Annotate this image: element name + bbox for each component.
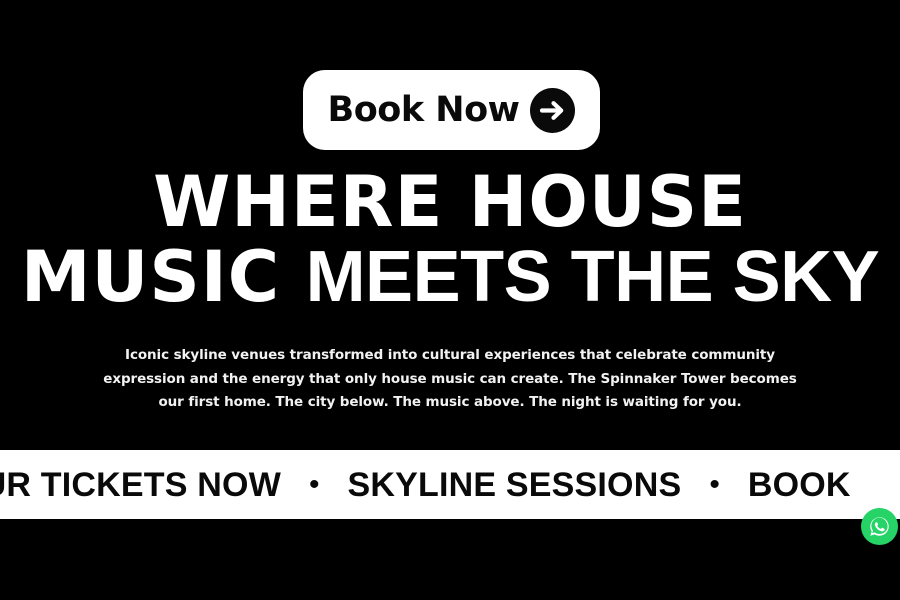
headline-rest: MEETS THE SKY <box>306 237 880 317</box>
headline-accent-word: MUSIC <box>21 236 280 318</box>
whatsapp-icon <box>868 515 891 538</box>
book-now-label: Book Now <box>328 93 520 128</box>
marquee-item: BOOK <box>748 468 851 502</box>
hero-section: Book Now WHERE HOUSE MUSIC MEETS THE SKY… <box>0 0 900 600</box>
book-now-button[interactable]: Book Now <box>303 70 600 150</box>
hero-headline: WHERE HOUSE MUSIC MEETS THE SKY <box>0 168 900 312</box>
marquee-separator: • <box>709 470 720 500</box>
marquee-track: OUR TICKETS NOW•SKYLINE SESSIONS•BOOK <box>0 468 851 502</box>
marquee-banner: OUR TICKETS NOW•SKYLINE SESSIONS•BOOK <box>0 450 900 519</box>
marquee-separator: • <box>309 470 320 500</box>
headline-line-2: MUSIC MEETS THE SKY <box>0 242 900 313</box>
marquee-item: SKYLINE SESSIONS <box>348 468 682 502</box>
arrow-right-circle-icon <box>530 88 575 133</box>
whatsapp-float-button[interactable] <box>861 508 898 545</box>
marquee-item: OUR TICKETS NOW <box>0 468 281 502</box>
hero-description: Iconic skyline venues transformed into c… <box>95 344 805 415</box>
headline-line-1: WHERE HOUSE <box>0 168 900 237</box>
